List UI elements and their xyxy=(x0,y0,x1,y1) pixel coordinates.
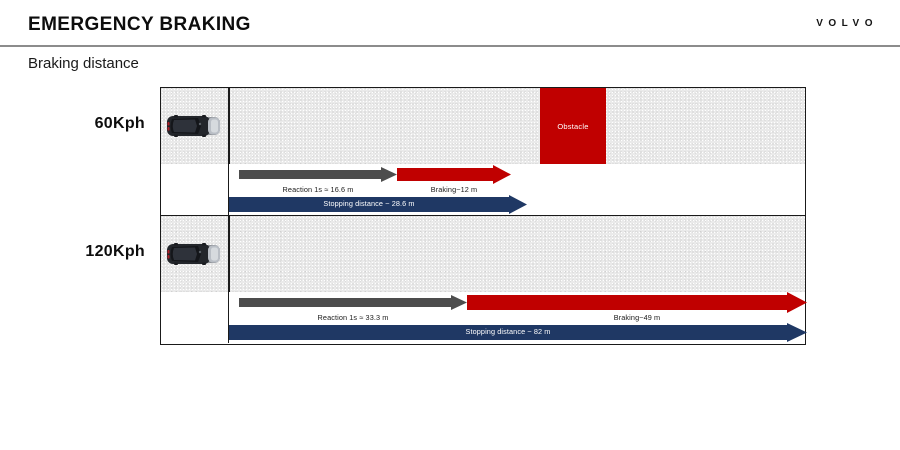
speed-label-row-2: 120Kph xyxy=(35,243,145,261)
page-title: EMERGENCY BRAKING xyxy=(28,14,251,36)
car-top-view-icon xyxy=(165,239,223,269)
header-divider xyxy=(0,45,900,47)
reaction-arrow-label-row-2: Reaction 1s ≈ 33.3 m xyxy=(239,313,467,322)
speed-label-row-1: 60Kph xyxy=(35,115,145,133)
reaction-arrow-row-2 xyxy=(239,295,467,310)
braking-distance-diagram: Obstacle Reaction 1s ≈ 16.6 m Braking~12… xyxy=(160,87,806,345)
braking-arrow-row-1 xyxy=(397,165,511,184)
car-top-view-icon xyxy=(165,111,223,141)
page-subtitle: Braking distance xyxy=(28,55,139,72)
road-texture xyxy=(230,216,805,292)
stopping-arrow-label-row-2: Stopping distance ~ 82 m xyxy=(229,327,787,336)
reaction-arrow-label-row-1: Reaction 1s ≈ 16.6 m xyxy=(239,185,397,194)
diagram-row-120kph: Reaction 1s ≈ 33.3 m Braking~49 m Stoppi… xyxy=(161,216,805,344)
diagram-row-60kph: Obstacle Reaction 1s ≈ 16.6 m Braking~12… xyxy=(161,88,805,216)
car-cell-row-2 xyxy=(161,216,229,292)
braking-arrow-label-row-2: Braking~49 m xyxy=(467,313,807,322)
road-texture xyxy=(230,88,805,164)
page-header: EMERGENCY BRAKING VOLVO xyxy=(0,0,900,46)
volvo-wordmark-logo: VOLVO xyxy=(816,18,878,29)
obstacle-label: Obstacle xyxy=(557,122,588,131)
car-cell-underarea-row-2 xyxy=(161,292,229,343)
road-strip-row-1: Obstacle xyxy=(229,88,805,164)
braking-arrow-label-row-1: Braking~12 m xyxy=(397,185,511,194)
stopping-arrow-label-row-1: Stopping distance ~ 28.6 m xyxy=(229,199,509,208)
road-strip-row-2 xyxy=(229,216,805,292)
braking-arrow-row-2 xyxy=(467,292,807,313)
reaction-arrow-row-1 xyxy=(239,167,397,182)
car-cell-underarea-row-1 xyxy=(161,164,229,215)
obstacle-block: Obstacle xyxy=(540,88,606,164)
car-cell-row-1 xyxy=(161,88,229,164)
